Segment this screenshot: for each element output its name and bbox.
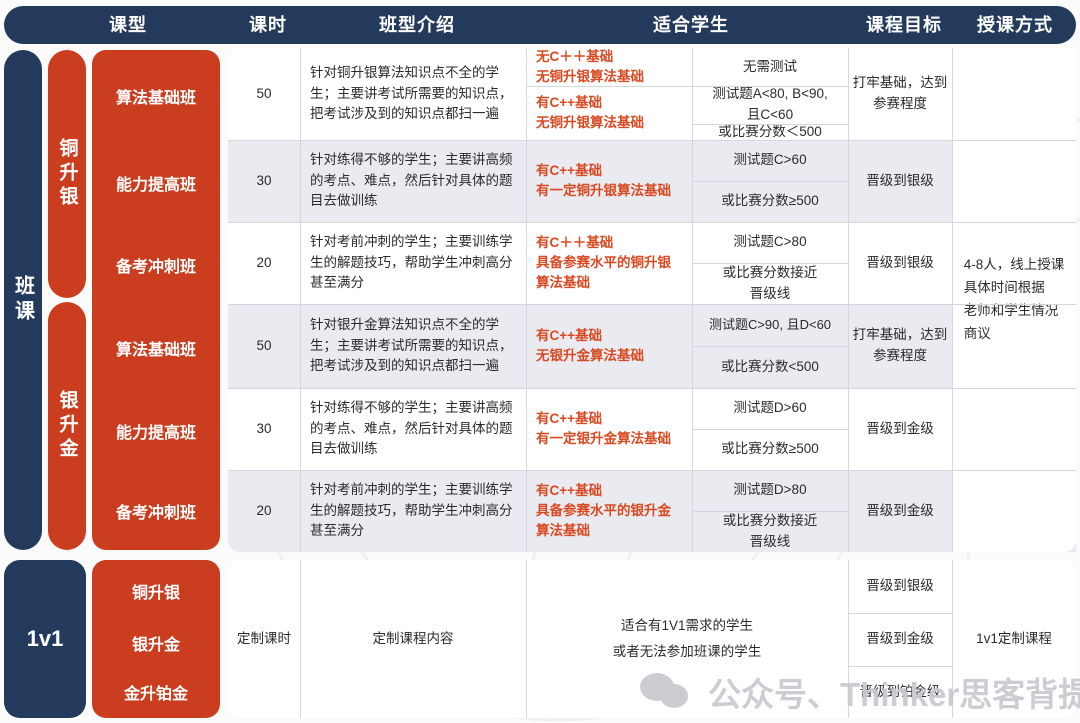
hours-cell-2: 30 <box>228 140 300 222</box>
hours-cell-3: 20 <box>228 222 300 304</box>
grid-line-v5b <box>952 560 953 718</box>
goal-cell-1: 打牢基础，达到参赛程度 <box>848 48 952 140</box>
group-one-on-one-label: 1v1 <box>27 626 64 652</box>
grid-line-h2 <box>228 222 1076 223</box>
grid-line-1v1-goal-split-2 <box>848 666 952 667</box>
hours-cell-1: 50 <box>228 48 300 140</box>
grid-line-v2b <box>526 560 527 718</box>
test-cell-3a: 测试题C>80 <box>692 222 848 263</box>
hours-cell-6: 20 <box>228 470 300 552</box>
intro-text-5: 针对练得不够的学生；主要讲高频的考点、难点，然后针对具体的题目去做训练 <box>310 398 518 461</box>
goal-text-4: 打牢基础，达到参赛程度 <box>853 325 948 367</box>
grid-line-v4 <box>848 48 849 552</box>
test-cell-1c: 或比赛分数＜500 <box>692 124 848 140</box>
requirement-cell-4: 有C++基础无银升金算法基础 <box>526 304 692 388</box>
one-on-one-mode-text: 1v1定制课程 <box>976 629 1052 650</box>
hours-value-6: 20 <box>256 501 271 522</box>
one-on-one-suitable-text: 适合有1V1需求的学生或者无法参加班课的学生 <box>613 613 762 664</box>
requirement-cell-1b: 有C++基础无铜升银算法基础 <box>526 86 692 140</box>
grid-line-1v1-goal-split-1 <box>848 613 952 614</box>
goal-cell-5: 晋级到金级 <box>848 388 952 470</box>
one-on-one-goal-text-1: 晋级到银级 <box>866 576 934 597</box>
grid-line-v1 <box>300 48 301 552</box>
one-on-one-goal-cell-2: 晋级到金级 <box>848 613 952 666</box>
intro-cell-6: 针对考前冲刺的学生；主要训练学生的解题技巧，帮助学生冲刺高分甚至满分 <box>300 470 526 552</box>
grid-line-v4b <box>848 560 849 718</box>
requirement-cell-5: 有C++基础有一定银升金算法基础 <box>526 388 692 470</box>
requirement-text-1a: 无C＋＋基础无铜升银算法基础 <box>536 47 644 88</box>
test-text-2a: 测试题C>60 <box>733 150 806 171</box>
grid-line-v5 <box>952 48 953 552</box>
test-cell-1b: 测试题A<80, B<90,且C<60 <box>692 86 848 124</box>
requirement-cell-3: 有C＋＋基础具备参赛水平的铜升银算法基础 <box>526 222 692 304</box>
hours-value-4: 50 <box>256 336 271 357</box>
one-on-one-level-label-3: 金升铂金 <box>124 680 188 704</box>
group-class-course-label: 班课 <box>9 275 38 325</box>
intro-cell-1: 针对铜升银算法知识点不全的学生；主要讲考试所需要的知识点，把考试涉及到的知识点都… <box>300 48 526 140</box>
intro-text-3: 针对考前冲刺的学生；主要训练学生的解题技巧，帮助学生冲刺高分甚至满分 <box>310 232 518 295</box>
grid-line-v2 <box>526 48 527 552</box>
intro-cell-4: 针对银升金算法知识点不全的学生；主要讲考试所需要的知识点，把考试涉及到的知识点都… <box>300 304 526 388</box>
test-text-4a: 测试题C>90, 且D<60 <box>709 315 831 335</box>
intro-text-6: 针对考前冲刺的学生；主要训练学生的解题技巧，帮助学生冲刺高分甚至满分 <box>310 480 518 543</box>
teaching-mode-cell: 4-8人，线上授课具体时间根据老师和学生情况商议 <box>952 48 1076 552</box>
goal-cell-4: 打牢基础，达到参赛程度 <box>848 304 952 388</box>
test-text-1b: 测试题A<80, B<90,且C<60 <box>712 84 828 126</box>
group-silver-gold-block[interactable]: 银升金 <box>48 302 86 550</box>
header-col-goal: 课程目标 <box>852 6 956 44</box>
grid-line-h1 <box>228 140 1076 141</box>
hours-value-3: 20 <box>256 253 271 274</box>
one-on-one-level-label-2: 银升金 <box>132 631 180 655</box>
test-cell-4b: 或比赛分数<500 <box>692 346 848 388</box>
one-on-one-level-label-1: 铜升银 <box>132 579 180 603</box>
grid-line-r1-split <box>526 86 848 87</box>
test-cell-6a: 测试题D>80 <box>692 470 848 511</box>
test-cell-4a: 测试题C>90, 且D<60 <box>692 304 848 346</box>
goal-cell-3: 晋级到银级 <box>848 222 952 304</box>
test-text-5a: 测试题D>60 <box>733 398 806 419</box>
class-name-cell-3[interactable]: 备考冲刺班 <box>92 224 220 306</box>
intro-text-2: 针对练得不够的学生；主要讲高频的考点、难点，然后针对具体的题目去做训练 <box>310 150 518 213</box>
class-name-label-6: 备考冲刺班 <box>116 499 196 523</box>
test-cell-1a: 无需测试 <box>692 48 848 86</box>
requirement-text-2: 有C++基础有一定铜升银算法基础 <box>536 161 671 202</box>
one-on-one-goal-text-3: 晋级到铂金级 <box>860 682 941 703</box>
one-on-one-suitable-cell: 适合有1V1需求的学生或者无法参加班课的学生 <box>526 560 848 718</box>
class-name-label-3: 备考冲刺班 <box>116 253 196 277</box>
goal-text-2: 晋级到银级 <box>866 171 934 192</box>
requirement-cell-2: 有C++基础有一定铜升银算法基础 <box>526 140 692 222</box>
header-col-suitable: 适合学生 <box>530 6 852 44</box>
group-class-course-block[interactable]: 班课 <box>4 50 42 550</box>
header-col-mode: 授课方式 <box>956 6 1074 44</box>
class-name-cell-2[interactable]: 能力提高班 <box>92 142 220 224</box>
group-bronze-silver-label: 铜升银 <box>54 138 81 210</box>
test-text-1a: 无需测试 <box>743 57 797 78</box>
hours-value-2: 30 <box>256 171 271 192</box>
requirement-text-3: 有C＋＋基础具备参赛水平的铜升银算法基础 <box>536 233 671 294</box>
one-on-one-mode-cell: 1v1定制课程 <box>952 560 1076 718</box>
hours-cell-4: 50 <box>228 304 300 388</box>
grid-line-r3-test-split <box>692 263 848 264</box>
requirement-cell-6: 有C++基础具备参赛水平的银升金算法基础 <box>526 470 692 552</box>
grid-line-r1b-split <box>692 124 848 125</box>
grid-line-r6-test-split <box>692 511 848 512</box>
grid-line-h4 <box>228 388 1076 389</box>
header-col-class-intro: 班型介绍 <box>304 6 530 44</box>
group-bronze-silver-block[interactable]: 铜升银 <box>48 50 86 298</box>
class-name-cell-5[interactable]: 能力提高班 <box>92 390 220 472</box>
grid-line-r4-test-split <box>692 346 848 347</box>
one-on-one-hours-text: 定制课时 <box>237 629 291 650</box>
requirement-text-5: 有C++基础有一定银升金算法基础 <box>536 409 671 450</box>
one-on-one-level-2[interactable]: 银升金 <box>92 618 220 668</box>
grid-line-r2-test-split <box>692 181 848 182</box>
intro-text-4: 针对银升金算法知识点不全的学生；主要讲考试所需要的知识点，把考试涉及到的知识点都… <box>310 315 518 378</box>
hours-cell-5: 30 <box>228 388 300 470</box>
class-name-cell-1[interactable]: 算法基础班 <box>92 50 220 142</box>
grid-line-v1b <box>300 560 301 718</box>
header-col-hours: 课时 <box>232 6 304 44</box>
requirement-cell-1a: 无C＋＋基础无铜升银算法基础 <box>526 48 692 86</box>
header-col-course-type: 课型 <box>28 6 228 44</box>
teaching-mode-text: 4-8人，线上授课具体时间根据老师和学生情况商议 <box>964 254 1065 346</box>
class-name-label-5: 能力提高班 <box>116 419 196 443</box>
goal-text-6: 晋级到金级 <box>866 501 934 522</box>
one-on-one-goal-text-2: 晋级到金级 <box>866 629 934 650</box>
one-on-one-intro-cell: 定制课程内容 <box>300 560 526 718</box>
one-on-one-level-1[interactable]: 铜升银 <box>92 566 220 616</box>
goal-cell-6: 晋级到金级 <box>848 470 952 552</box>
requirement-text-1b: 有C++基础无铜升银算法基础 <box>536 93 644 134</box>
test-cell-2b: 或比赛分数≥500 <box>692 181 848 222</box>
one-on-one-goal-cell-1: 晋级到银级 <box>848 560 952 613</box>
goal-text-1: 打牢基础，达到参赛程度 <box>853 73 948 115</box>
grid-line-h3 <box>228 304 1076 305</box>
class-name-label-4: 算法基础班 <box>116 336 196 360</box>
group-one-on-one-block[interactable]: 1v1 <box>4 560 86 718</box>
class-name-label-1: 算法基础班 <box>116 84 196 108</box>
intro-cell-2: 针对练得不够的学生；主要讲高频的考点、难点，然后针对具体的题目去做训练 <box>300 140 526 222</box>
test-text-5b: 或比赛分数≥500 <box>721 439 818 460</box>
test-text-6b: 或比赛分数接近晋级线 <box>723 511 818 553</box>
intro-cell-3: 针对考前冲刺的学生；主要训练学生的解题技巧，帮助学生冲刺高分甚至满分 <box>300 222 526 304</box>
intro-cell-5: 针对练得不够的学生；主要讲高频的考点、难点，然后针对具体的题目去做训练 <box>300 388 526 470</box>
test-text-2b: 或比赛分数≥500 <box>721 191 818 212</box>
grid-line-r5-test-split <box>692 429 848 430</box>
class-name-cell-6[interactable]: 备考冲刺班 <box>92 472 220 550</box>
one-on-one-level-3[interactable]: 金升铂金 <box>92 668 220 716</box>
test-cell-5a: 测试题D>60 <box>692 388 848 429</box>
grid-line-h5 <box>228 470 1076 471</box>
goal-cell-2: 晋级到银级 <box>848 140 952 222</box>
group-silver-gold-label: 银升金 <box>54 390 81 462</box>
pricing-table-page: 课型 课时 班型介绍 适合学生 课程目标 授课方式 班课 铜升银 <box>0 0 1080 723</box>
one-on-one-hours-cell: 定制课时 <box>228 560 300 718</box>
test-cell-2a: 测试题C>60 <box>692 140 848 181</box>
test-text-4b: 或比赛分数<500 <box>721 357 819 378</box>
hours-value-1: 50 <box>256 84 271 105</box>
goal-text-3: 晋级到银级 <box>866 253 934 274</box>
one-on-one-goal-cell-3: 晋级到铂金级 <box>848 666 952 718</box>
hours-value-5: 30 <box>256 419 271 440</box>
test-cell-5b: 或比赛分数≥500 <box>692 429 848 470</box>
test-text-6a: 测试题D>80 <box>733 480 806 501</box>
test-text-3a: 测试题C>80 <box>733 232 806 253</box>
requirement-text-4: 有C++基础无银升金算法基础 <box>536 326 644 367</box>
goal-text-5: 晋级到金级 <box>866 419 934 440</box>
requirement-text-6: 有C++基础具备参赛水平的银升金算法基础 <box>536 481 671 542</box>
one-on-one-intro-text: 定制课程内容 <box>373 629 454 650</box>
table-header: 课型 课时 班型介绍 适合学生 课程目标 授课方式 <box>4 6 1076 44</box>
intro-text-1: 针对铜升银算法知识点不全的学生；主要讲考试所需要的知识点，把考试涉及到的知识点都… <box>310 63 518 126</box>
test-cell-6b: 或比赛分数接近晋级线 <box>692 511 848 552</box>
test-text-3b: 或比赛分数接近晋级线 <box>723 263 818 305</box>
class-name-cell-4[interactable]: 算法基础班 <box>92 306 220 390</box>
test-cell-3b: 或比赛分数接近晋级线 <box>692 263 848 304</box>
class-name-label-2: 能力提高班 <box>116 171 196 195</box>
